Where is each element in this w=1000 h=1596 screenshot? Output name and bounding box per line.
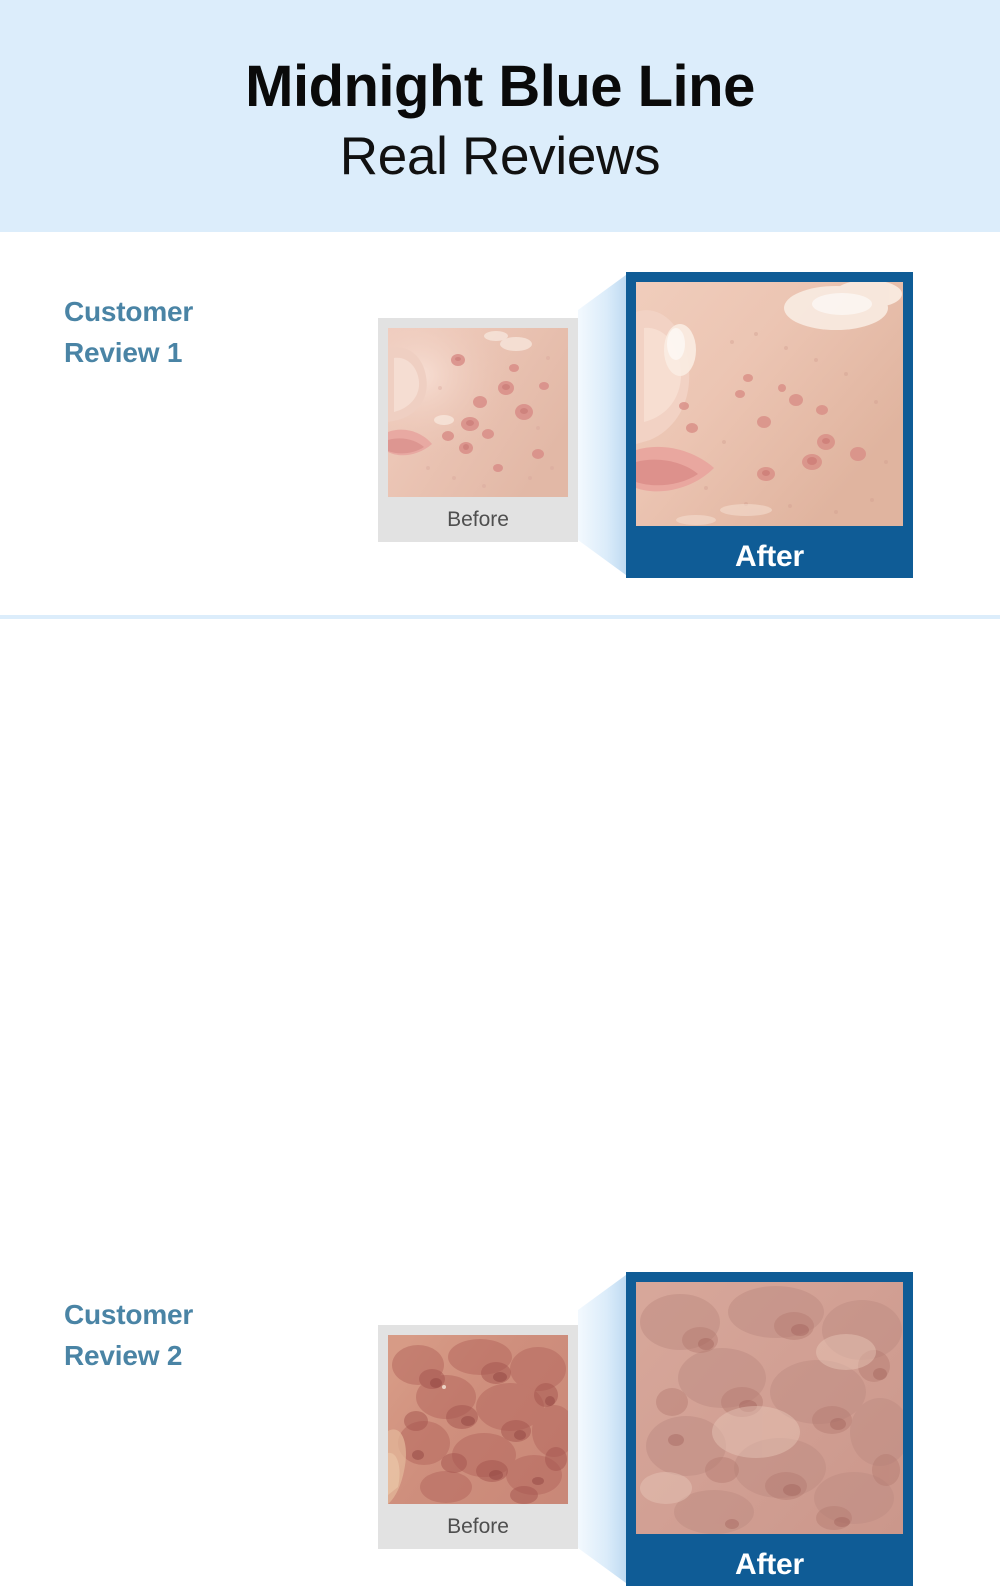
review-1-label-line1: Customer bbox=[64, 292, 193, 333]
page-header: Midnight Blue Line Real Reviews bbox=[0, 0, 1000, 232]
review-1-connector bbox=[578, 272, 630, 578]
review-2-after-panel[interactable]: After bbox=[626, 1272, 913, 1586]
review-2-connector bbox=[578, 1272, 630, 1586]
review-2-before-caption: Before bbox=[388, 1504, 568, 1549]
review-2-after-caption: After bbox=[636, 1534, 903, 1596]
review-section-2: Customer Review 2 bbox=[0, 617, 1000, 1002]
review-2-before-card[interactable]: Before bbox=[378, 1325, 578, 1549]
review-1-label: Customer Review 1 bbox=[64, 292, 193, 374]
review-1-before-caption: Before bbox=[388, 497, 568, 542]
review-1-before-card[interactable]: Before bbox=[378, 318, 578, 542]
review-2-after-photo bbox=[636, 1282, 903, 1534]
page-title: Midnight Blue Line bbox=[245, 57, 755, 118]
review-section-1: Customer Review 1 bbox=[0, 232, 1000, 617]
review-2-before-photo bbox=[388, 1335, 568, 1504]
page-subtitle: Real Reviews bbox=[340, 128, 660, 185]
review-2-label-line2: Review 2 bbox=[64, 1336, 193, 1377]
review-1-before-photo bbox=[388, 328, 568, 497]
review-2-label: Customer Review 2 bbox=[64, 1295, 193, 1377]
review-1-label-line2: Review 1 bbox=[64, 333, 193, 374]
review-1-after-photo bbox=[636, 282, 903, 526]
review-1-after-panel[interactable]: After bbox=[626, 272, 913, 578]
review-1-after-caption: After bbox=[636, 526, 903, 588]
review-2-label-line1: Customer bbox=[64, 1295, 193, 1336]
